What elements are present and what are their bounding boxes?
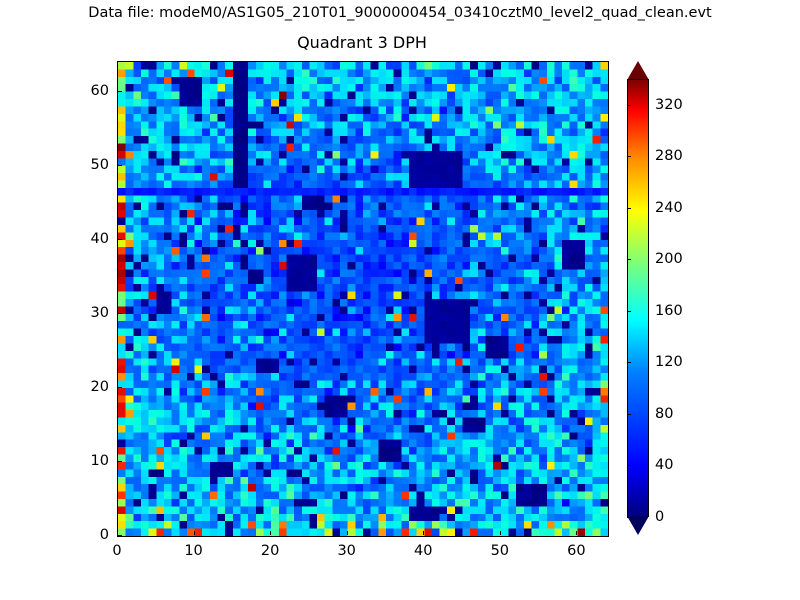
y-tick-label: 30 [69,305,109,321]
y-tick-label: 40 [69,231,109,247]
x-tick-label: 20 [261,543,279,559]
y-tick-label: 10 [69,453,109,469]
y-tick-mark [118,387,122,388]
colorbar-tick-label: 80 [655,406,673,422]
y-tick-label: 20 [69,379,109,395]
colorbar-tick-label: 40 [655,457,673,473]
y-tick-label: 0 [69,527,109,543]
colorbar-tick-mark [627,517,631,518]
y-tick-mark [118,461,122,462]
x-tick-label: 0 [112,543,121,559]
colorbar-tick-mark [627,208,631,209]
heatmap-image [118,62,608,536]
matplotlib-figure: Data file: modeM0/AS1G05_210T01_90000004… [0,0,800,600]
y-tick-mark [118,313,122,314]
colorbar-gradient [627,79,649,517]
y-tick-mark [118,239,122,240]
figure-suptitle: Data file: modeM0/AS1G05_210T01_90000004… [0,5,800,21]
x-tick-label: 40 [414,543,432,559]
x-tick-label: 30 [337,543,355,559]
x-tick-mark [576,531,577,535]
x-tick-label: 10 [184,543,202,559]
colorbar-tick-mark [627,465,631,466]
colorbar-tick-mark [627,414,631,415]
y-tick-mark [118,91,122,92]
x-tick-label: 50 [491,543,509,559]
colorbar-tick-label: 240 [655,200,683,216]
x-tick-mark [270,531,271,535]
plot-title: Quadrant 3 DPH [117,33,607,52]
colorbar-tick-label: 200 [655,251,683,267]
colorbar-tick-mark [627,311,631,312]
y-tick-mark [118,165,122,166]
colorbar-tick-label: 0 [655,509,664,525]
colorbar-tick-label: 160 [655,303,683,319]
x-tick-mark [423,531,424,535]
colorbar-tick-label: 120 [655,354,683,370]
colorbar-tick-mark [627,362,631,363]
y-tick-label: 60 [69,83,109,99]
y-tick-mark [118,535,122,536]
colorbar-tick-mark [627,156,631,157]
colorbar-tick-label: 320 [655,97,683,113]
colorbar-extend-min-arrow [627,516,649,535]
heatmap-axes [117,61,609,537]
colorbar-extend-max-arrow [627,61,649,80]
x-tick-mark [500,531,501,535]
x-tick-label: 60 [567,543,585,559]
colorbar-tick-mark [627,259,631,260]
x-tick-mark [194,531,195,535]
colorbar-tick-mark [627,105,631,106]
colorbar-tick-label: 280 [655,148,683,164]
x-tick-mark [347,531,348,535]
colorbar: 04080120160200240280320 [627,61,651,535]
y-tick-label: 50 [69,157,109,173]
